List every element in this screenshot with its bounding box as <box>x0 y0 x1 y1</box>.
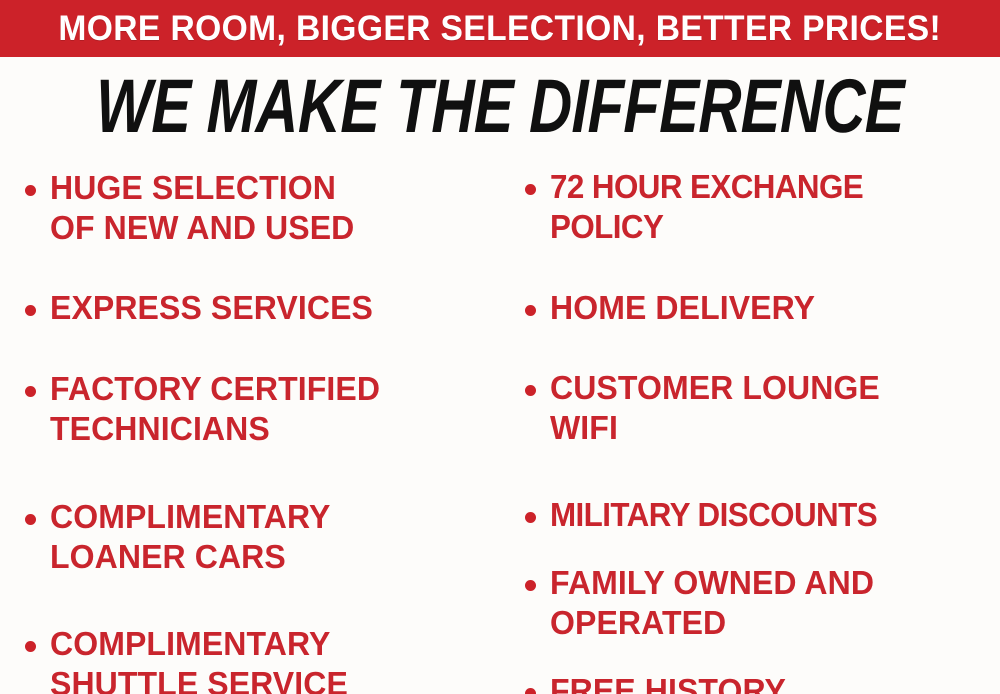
list-item: COMPLIMENTARY SHUTTLE SERVICE <box>14 624 500 694</box>
bullet-dot-icon <box>525 305 536 316</box>
list-item: HOME DELIVERY <box>514 288 1000 328</box>
list-item-label: 72 HOUR EXCHANGE POLICY <box>550 167 978 247</box>
list-item-label: COMPLIMENTARY LOANER CARS <box>50 497 487 577</box>
bullet-dot-icon <box>525 184 536 195</box>
list-item-label: MILITARY DISCOUNTS <box>550 495 978 535</box>
list-item: HUGE SELECTION OF NEW AND USED <box>14 168 500 248</box>
list-item: FREE HISTORY REPORTS <box>514 671 1000 694</box>
list-item: 72 HOUR EXCHANGE POLICY <box>514 167 1000 247</box>
list-item: MILITARY DISCOUNTS <box>514 495 1000 535</box>
page-title: WE MAKE THE DIFFERENCE <box>95 69 904 145</box>
list-item-label: HOME DELIVERY <box>550 288 987 328</box>
list-item: COMPLIMENTARY LOANER CARS <box>14 497 500 577</box>
promotional-poster: MORE ROOM, BIGGER SELECTION, BETTER PRIC… <box>0 0 1000 694</box>
list-item-label: FREE HISTORY REPORTS <box>550 671 987 694</box>
benefits-column-left: HUGE SELECTION OF NEW AND USED EXPRESS S… <box>14 160 500 694</box>
bullet-dot-icon <box>525 580 536 591</box>
list-item: EXPRESS SERVICES <box>14 288 500 328</box>
list-item-label: CUSTOMER LOUNGE WIFI <box>550 368 987 448</box>
list-item: CUSTOMER LOUNGE WIFI <box>514 368 1000 448</box>
bullet-dot-icon <box>25 514 36 525</box>
bullet-dot-icon <box>25 641 36 652</box>
benefits-column-right: 72 HOUR EXCHANGE POLICY HOME DELIVERY CU… <box>514 160 1000 694</box>
list-item-label: EXPRESS SERVICES <box>50 288 487 328</box>
banner-headline: MORE ROOM, BIGGER SELECTION, BETTER PRIC… <box>59 11 942 46</box>
bullet-dot-icon <box>525 385 536 396</box>
list-item-label: COMPLIMENTARY SHUTTLE SERVICE <box>50 624 487 694</box>
bullet-dot-icon <box>25 305 36 316</box>
list-item: FAMILY OWNED AND OPERATED <box>514 563 1000 643</box>
bullet-dot-icon <box>525 688 536 694</box>
list-item-label: FAMILY OWNED AND OPERATED <box>550 563 987 643</box>
bullet-dot-icon <box>25 185 36 196</box>
list-item-label: FACTORY CERTIFIED TECHNICIANS <box>50 369 487 449</box>
list-item: FACTORY CERTIFIED TECHNICIANS <box>14 369 500 449</box>
bullet-dot-icon <box>525 512 536 523</box>
top-banner: MORE ROOM, BIGGER SELECTION, BETTER PRIC… <box>0 0 1000 57</box>
headline-container: WE MAKE THE DIFFERENCE <box>0 57 1000 157</box>
list-item-label: HUGE SELECTION OF NEW AND USED <box>50 168 487 248</box>
benefits-columns: HUGE SELECTION OF NEW AND USED EXPRESS S… <box>0 160 1000 694</box>
bullet-dot-icon <box>25 386 36 397</box>
